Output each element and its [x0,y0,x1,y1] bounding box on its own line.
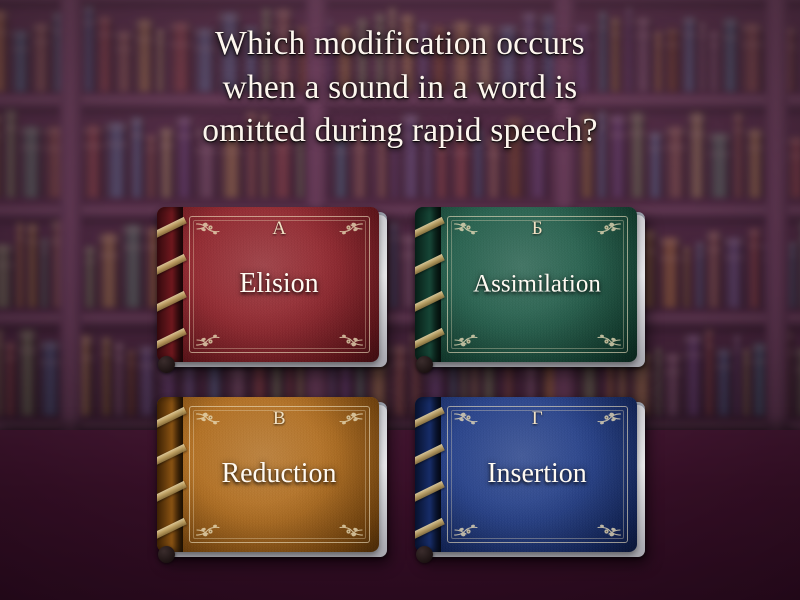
book-cover-b[interactable]: Б Assimilation [415,207,637,362]
answer-grid: А Elision [157,207,643,560]
flourish-ornament-icon [334,328,364,348]
flourish-ornament-icon [592,518,622,538]
question-line-2: when a sound in a word is [68,66,732,110]
book-spine [157,397,183,552]
book-spine [415,207,441,362]
answer-option-v[interactable]: В Reduction [157,397,385,560]
book-spine [415,397,441,552]
option-text: Reduction [187,458,371,489]
flourish-ornament-icon [592,328,622,348]
flourish-ornament-icon [195,328,225,348]
question-line-3: omitted during rapid speech? [68,109,732,153]
answer-option-g[interactable]: Г Insertion [415,397,643,560]
option-letter: Б [447,218,628,240]
book-spine [157,207,183,362]
option-letter: А [189,218,370,240]
question-text: Which modification occurs when a sound i… [0,22,800,153]
spine-nub [416,356,433,373]
flourish-ornament-icon [453,518,483,538]
spine-nub [158,546,175,563]
quiz-screen: Which modification occurs when a sound i… [0,0,800,600]
flourish-ornament-icon [453,328,483,348]
option-text: Assimilation [445,270,629,298]
answer-option-b[interactable]: Б Assimilation [415,207,643,370]
book-cover-a[interactable]: А Elision [157,207,379,362]
option-text: Elision [187,268,371,299]
flourish-ornament-icon [195,518,225,538]
option-letter: В [189,408,370,430]
spine-nub [416,546,433,563]
question-line-1: Which modification occurs [68,22,732,66]
book-cover-v[interactable]: В Reduction [157,397,379,552]
option-text: Insertion [445,458,629,489]
answer-option-a[interactable]: А Elision [157,207,385,370]
flourish-ornament-icon [334,518,364,538]
book-cover-g[interactable]: Г Insertion [415,397,637,552]
spine-nub [158,356,175,373]
option-letter: Г [447,408,628,430]
